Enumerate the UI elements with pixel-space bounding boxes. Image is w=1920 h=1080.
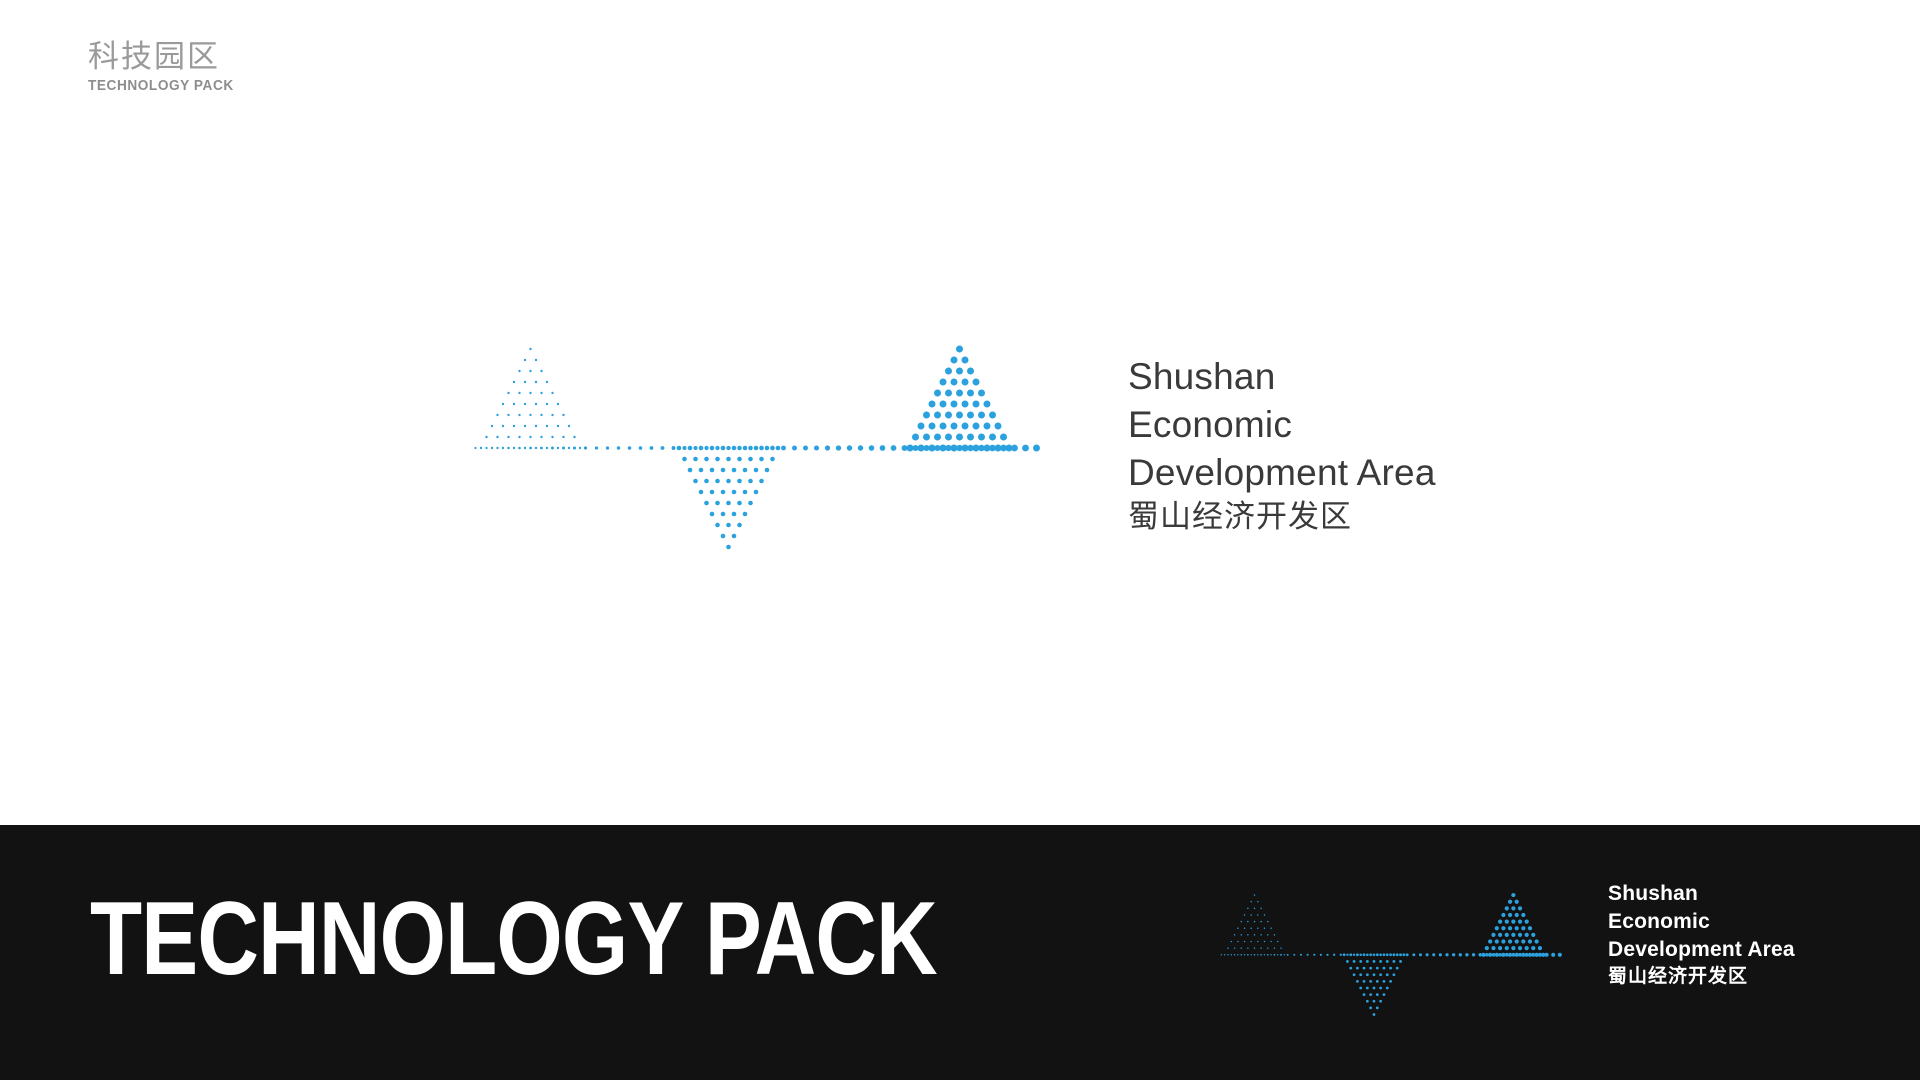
brand-line-cn: 蜀山经济开发区 xyxy=(1128,502,1436,533)
banner-brand-line-3: Development Area xyxy=(1608,939,1795,960)
banner-dot-wave-mark xyxy=(1218,883,1568,1023)
corner-logo-cn: 科技园区 xyxy=(88,42,243,73)
banner-brand-line-2: Economic xyxy=(1608,911,1795,932)
dot-wave-mark-svg xyxy=(470,330,1050,560)
banner-brand-line-1: Shushan xyxy=(1608,883,1795,904)
bottom-banner: TECHNOLOGY PACK Shushan Economic Develop… xyxy=(0,825,1920,1080)
corner-logo-en: TECHNOLOGY PACK xyxy=(88,79,234,94)
brand-name-block: Shushan Economic Development Area 蜀山经济开发… xyxy=(1128,358,1436,533)
brand-lockup: Shushan Economic Development Area 蜀山经济开发… xyxy=(470,330,1436,560)
slide-canvas: 科技园区 TECHNOLOGY PACK Shushan Economic De… xyxy=(0,0,1920,1080)
brand-line-2: Economic xyxy=(1128,406,1436,443)
dot-wave-mark xyxy=(470,330,1050,560)
banner-dot-wave-mark-svg xyxy=(1218,883,1568,1023)
banner-title: TECHNOLOGY PACK xyxy=(90,887,937,991)
brand-line-3: Development Area xyxy=(1128,454,1436,491)
banner-brand-block: Shushan Economic Development Area 蜀山经济开发… xyxy=(1608,883,1795,986)
banner-brand-line-cn: 蜀山经济开发区 xyxy=(1608,967,1795,986)
brand-line-1: Shushan xyxy=(1128,358,1436,395)
corner-logo: 科技园区 TECHNOLOGY PACK xyxy=(88,42,243,94)
